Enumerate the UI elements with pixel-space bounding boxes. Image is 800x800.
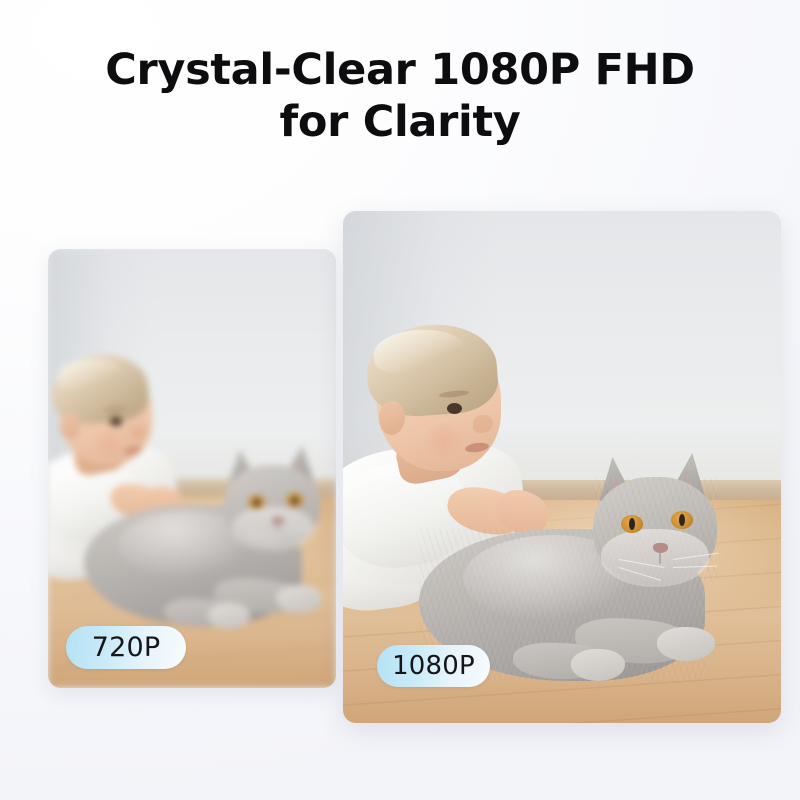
badge-label: 720P [92,632,161,663]
cat-pupil [679,514,685,526]
cat-paw [276,585,322,613]
cat-pupil [292,496,297,505]
badge-label: 1080P [392,651,475,681]
cat-nose [653,543,668,553]
child-cheek [421,423,467,457]
cat-paw [657,627,715,661]
cat-eye [248,495,265,509]
comparison-card-720p[interactable]: 720P [48,249,336,688]
cat-pupil [254,498,259,507]
child-eye [110,417,122,426]
cat-eye [671,511,693,529]
photo-720p [48,249,336,688]
product-feature-banner: Crystal-Clear 1080P FHD for Clarity [0,0,800,800]
resolution-badge-720p: 720P [66,626,186,669]
cat-eye [621,515,643,533]
cat-paw [571,649,625,681]
cat-nose [272,517,284,525]
page-title: Crystal-Clear 1080P FHD for Clarity [0,44,800,148]
cat-muzzle-line [659,553,661,564]
cat-muzzle-line [277,525,279,533]
resolution-badge-1080p: 1080P [377,645,490,687]
cat-paw [208,603,250,629]
headline-line-2: for Clarity [0,96,800,148]
cat-eye [286,493,303,507]
child-eye [447,403,462,414]
child-cheek [92,431,126,457]
headline-line-1: Crystal-Clear 1080P FHD [105,45,695,95]
cat-pupil [629,518,635,530]
comparison-card-1080p[interactable]: 1080P [343,211,781,723]
